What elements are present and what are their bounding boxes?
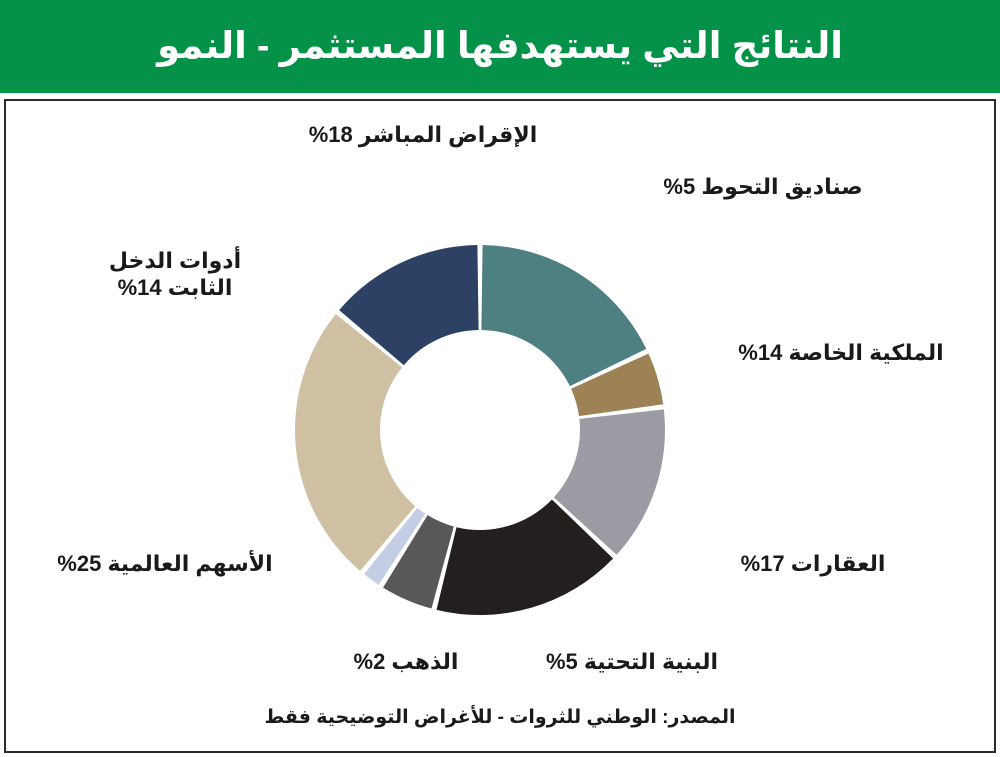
chart-page: النتائج التي يستهدفها المستثمر - النمو ا…: [0, 0, 1000, 757]
slice-label-gold: الذهب 2%: [320, 649, 492, 676]
page-title: النتائج التي يستهدفها المستثمر - النمو: [157, 26, 843, 67]
slice-label-real-estate: العقارات 17%: [672, 551, 954, 578]
slice-label-direct-lending: الإقراض المباشر 18%: [258, 122, 588, 149]
slice-label-global-equities: الأسهم العالمية 25%: [24, 551, 306, 578]
slice-label-hedge-funds: صناديق التحوط 5%: [608, 174, 918, 201]
slice-label-fixed-income: أدوات الدخل الثابت 14%: [62, 248, 288, 302]
source-footnote: المصدر: الوطني للثروات - للأغراض التوضيح…: [0, 706, 1000, 729]
header-banner: النتائج التي يستهدفها المستثمر - النمو: [0, 0, 1000, 93]
slice-label-private-equity: الملكية الخاصة 14%: [700, 340, 982, 367]
slice-label-infrastructure: البنية التحتية 5%: [482, 649, 782, 676]
